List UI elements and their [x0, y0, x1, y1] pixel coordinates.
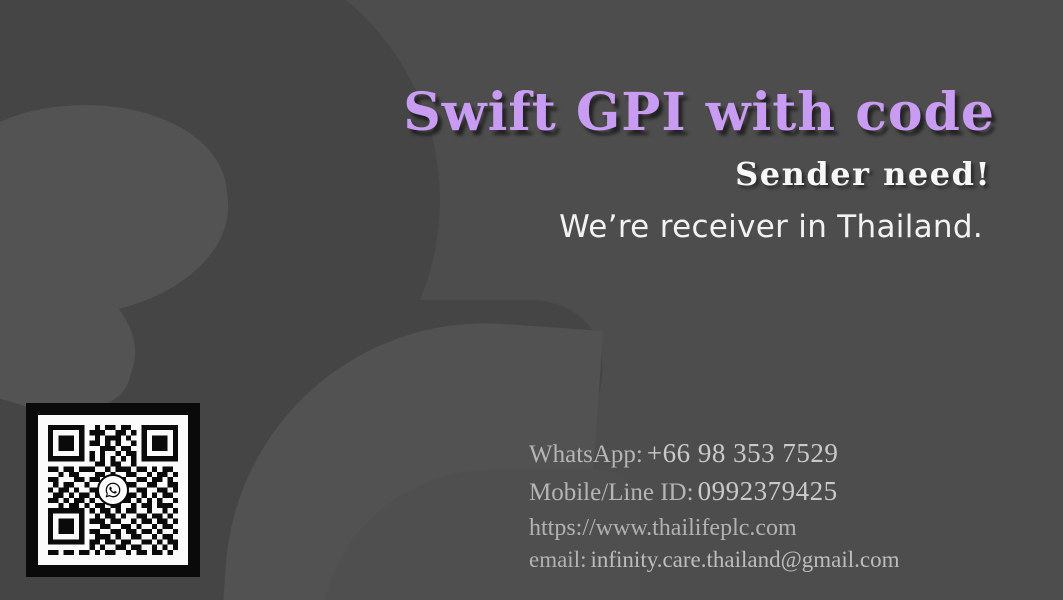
contact-row-website: https://www.thailifeplc.com	[529, 516, 900, 540]
subheadline: Sender need!	[0, 155, 991, 193]
card-content: Swift GPI with code Sender need! We’re r…	[0, 0, 1063, 600]
business-card-canvas: Swift GPI with code Sender need! We’re r…	[0, 0, 1063, 600]
contact-block: WhatsApp: +66 98 353 7529 Mobile/Line ID…	[529, 440, 900, 571]
contact-row-email: email: infinity.care.thailand@gmail.com	[529, 548, 900, 571]
headline-title: Swift GPI with code	[0, 82, 995, 143]
contact-row-whatsapp: WhatsApp: +66 98 353 7529	[529, 440, 900, 467]
email-address[interactable]: infinity.care.thailand@gmail.com	[590, 547, 899, 572]
whatsapp-qr-code[interactable]	[26, 403, 200, 577]
tagline-text: We’re receiver in Thailand.	[0, 209, 983, 245]
email-label: email:	[529, 547, 586, 572]
qr-field	[38, 415, 188, 565]
whatsapp-icon	[97, 474, 129, 506]
whatsapp-number[interactable]: +66 98 353 7529	[647, 438, 838, 468]
mobile-line-id-number[interactable]: 0992379425	[698, 476, 838, 506]
website-link[interactable]: https://www.thailifeplc.com	[529, 515, 797, 541]
contact-row-mobile: Mobile/Line ID: 0992379425	[529, 478, 900, 505]
mobile-line-id-label: Mobile/Line ID:	[529, 479, 694, 506]
whatsapp-label: WhatsApp:	[529, 441, 643, 468]
